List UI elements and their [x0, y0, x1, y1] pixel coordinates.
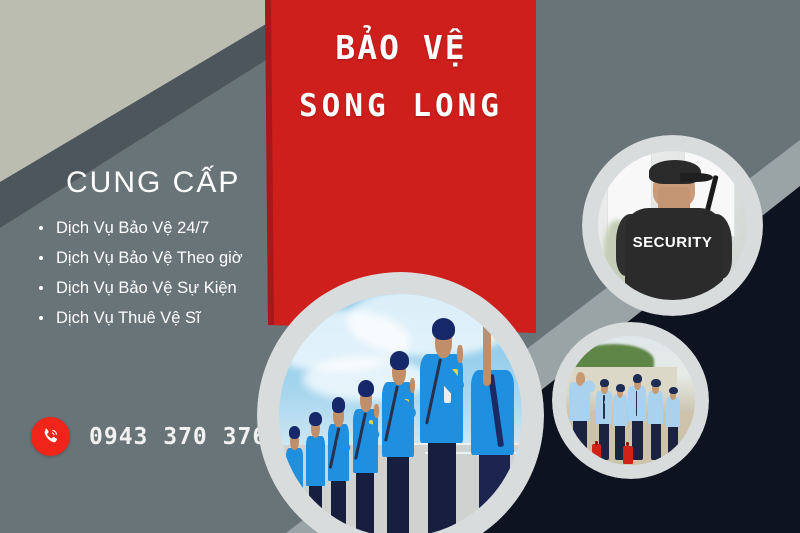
guard-figure — [379, 347, 418, 533]
photo-frame — [566, 336, 695, 465]
photo-scene — [566, 336, 695, 465]
security-training-photo — [552, 322, 709, 479]
guard-figure — [349, 377, 381, 533]
services-list: Dịch Vụ Bảo Vệ 24/7 Dịch Vụ Bảo Vệ Theo … — [30, 213, 280, 333]
photo-scene — [279, 294, 522, 533]
guard-figure-raised-arm — [469, 333, 522, 533]
headline-line-2: SONG LONG — [265, 84, 537, 128]
headline-line-1: BẢO VỆ — [265, 26, 537, 70]
guard-jacket — [625, 208, 723, 300]
list-item: Dịch Vụ Thuê Vệ Sĩ — [30, 303, 280, 333]
instructor-figure — [567, 367, 593, 460]
guard-figure — [418, 313, 467, 533]
list-item: Dịch Vụ Bảo Vệ Sự Kiện — [30, 273, 280, 303]
photo-scene: SECURITY — [598, 151, 747, 300]
list-item: Dịch Vụ Bảo Vệ 24/7 — [30, 213, 280, 243]
list-item: Dịch Vụ Bảo Vệ Theo giờ — [30, 243, 280, 273]
guard-figure — [303, 411, 327, 533]
phone-icon[interactable] — [31, 417, 70, 456]
guard-figure — [646, 377, 665, 460]
guard-figure — [664, 385, 682, 460]
phone-number: 0943 370 376 — [89, 424, 267, 450]
fire-extinguisher — [623, 446, 633, 464]
jacket-security-text: SECURITY — [598, 234, 747, 251]
fire-extinguisher — [592, 444, 601, 461]
photo-frame — [279, 294, 522, 533]
guard-figure — [325, 396, 352, 533]
security-team-saluting-photo — [257, 272, 544, 533]
poster-headline: BẢO VỆ SONG LONG — [265, 26, 537, 128]
photo-frame: SECURITY — [598, 151, 747, 300]
contact-phone-row[interactable]: 0943 370 376 — [31, 417, 267, 456]
services-title: CUNG CẤP — [66, 166, 240, 200]
poster-canvas: BẢO VỆ SONG LONG CUNG CẤP Dịch Vụ Bảo Vệ… — [0, 0, 800, 533]
security-guard-radio-photo: SECURITY — [582, 135, 763, 316]
